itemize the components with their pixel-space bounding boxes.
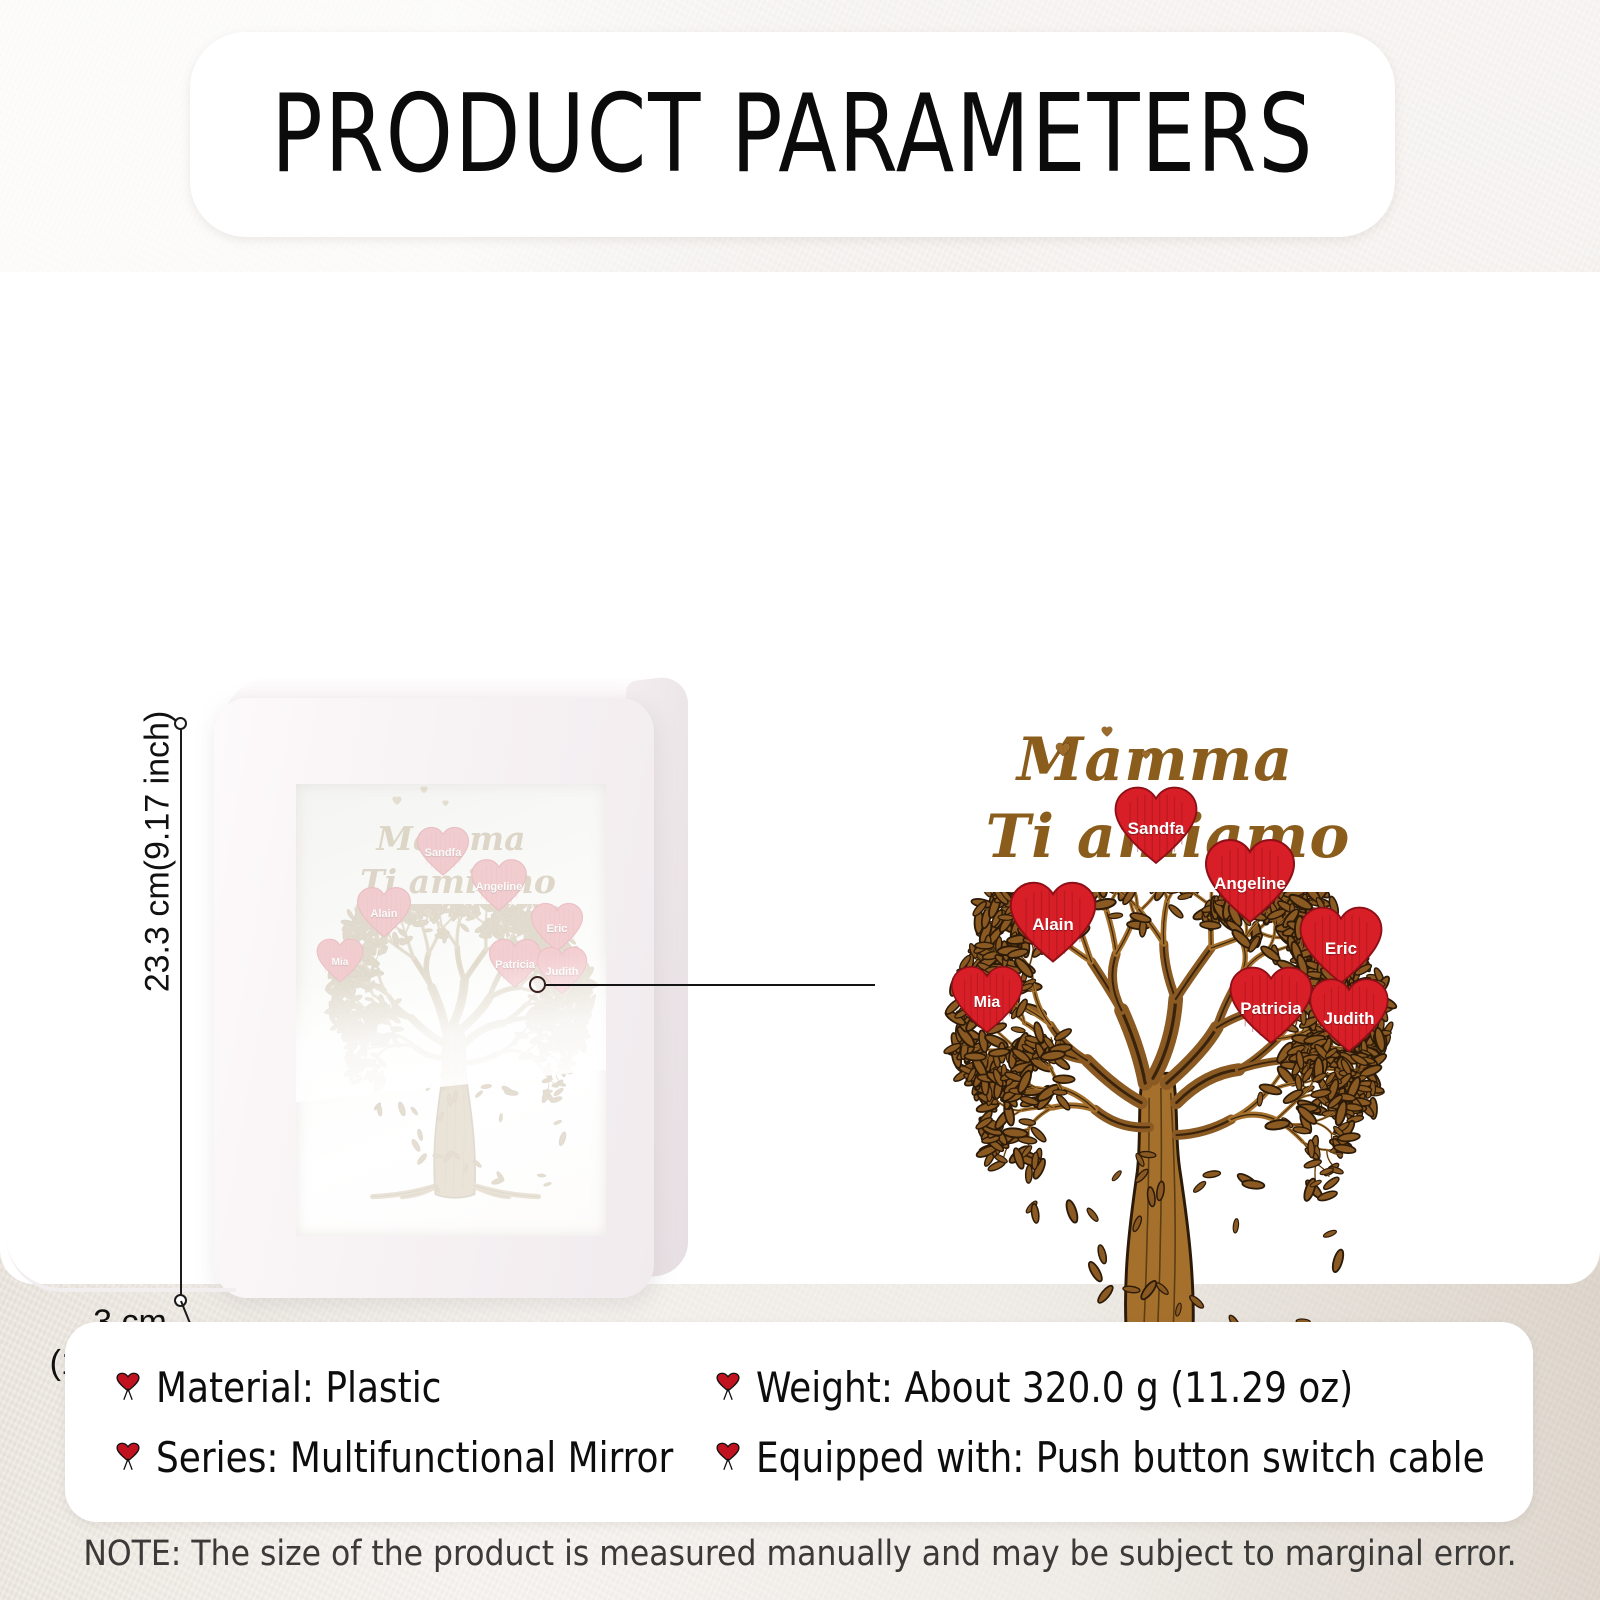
spec-label: Material: Plastic (156, 1363, 441, 1412)
decorative-heart-icon (392, 796, 402, 806)
heart-bullet-icon (115, 1442, 141, 1472)
heart-bullet-icon (115, 1372, 141, 1402)
spec-column-left: Material: PlasticSeries: Multifunctional… (113, 1352, 700, 1492)
heart-judith: Judith (1305, 974, 1393, 1062)
decorative-heart-icon (1055, 742, 1071, 758)
power-cable (6, 1236, 236, 1292)
decorative-heart-icon (442, 800, 449, 807)
main-panel: Mamma Ti amiamo SandfaAngelineAlainEricM… (0, 272, 1600, 1284)
heart-patricia: Patricia (1225, 962, 1317, 1054)
spec-row: Equipped with: Push button switch cable (713, 1422, 1523, 1492)
heart-angeline: Angeline (468, 856, 530, 918)
heart-angeline: Angeline (1200, 834, 1300, 934)
callout-marker-icon (529, 976, 546, 993)
footer-note: NOTE: The size of the product is measure… (0, 1534, 1600, 1574)
heart-mia: Mia (314, 936, 366, 988)
heart-alain: Alain (1005, 877, 1101, 973)
heart-alain: Alain (354, 884, 414, 944)
title-card: PRODUCT PARAMETERS (190, 32, 1395, 237)
decorative-heart-icon (1101, 726, 1113, 738)
heart-mia: Mia (947, 962, 1027, 1042)
heart-judith: Judith (534, 944, 590, 1000)
heart-bullet-icon (713, 1442, 743, 1472)
framed-artwork: Mamma Ti amiamo SandfaAngelineAlainEricM… (296, 784, 606, 1236)
heart-sandfa: Sandfa (1110, 782, 1202, 874)
spec-label: Weight: About 320.0 g (11.29 oz) (756, 1363, 1353, 1412)
frame-inner-panel: Mamma Ti amiamo SandfaAngelineAlainEricM… (296, 784, 606, 1236)
height-dimension-line (180, 723, 182, 1301)
decorative-heart-icon (1141, 750, 1151, 760)
spec-label: Equipped with: Push button switch cable (756, 1433, 1485, 1482)
heart-bullet-icon (713, 1372, 743, 1402)
height-dimension-label: 23.3 cm(9.17 inch) (139, 672, 178, 1032)
spec-row: Weight: About 320.0 g (11.29 oz) (713, 1352, 1523, 1422)
heart-sandfa: Sandfa (414, 824, 472, 882)
heart-bullet-icon (113, 1372, 143, 1402)
callout-leader-line (545, 984, 875, 986)
heart-bullet-icon (715, 1442, 741, 1472)
artwork-detail: Mamma Ti amiamo SandfaAngelineAlainEricM… (905, 722, 1405, 1382)
decorative-heart-icon (420, 786, 428, 794)
page-title: PRODUCT PARAMETERS (271, 72, 1314, 197)
spec-label: Series: Multifunctional Mirror (156, 1433, 673, 1482)
frame-body: Mamma Ti amiamo SandfaAngelineAlainEricM… (214, 698, 654, 1298)
spec-row: Series: Multifunctional Mirror (113, 1422, 700, 1492)
specifications-card: Material: PlasticSeries: Multifunctional… (65, 1322, 1533, 1522)
heart-bullet-icon (715, 1372, 741, 1402)
spec-row: Material: Plastic (113, 1352, 700, 1422)
heart-bullet-icon (113, 1442, 143, 1472)
spec-column-right: Weight: About 320.0 g (11.29 oz)Equipped… (713, 1352, 1523, 1492)
product-photo: Mamma Ti amiamo SandfaAngelineAlainEricM… (196, 670, 716, 1330)
